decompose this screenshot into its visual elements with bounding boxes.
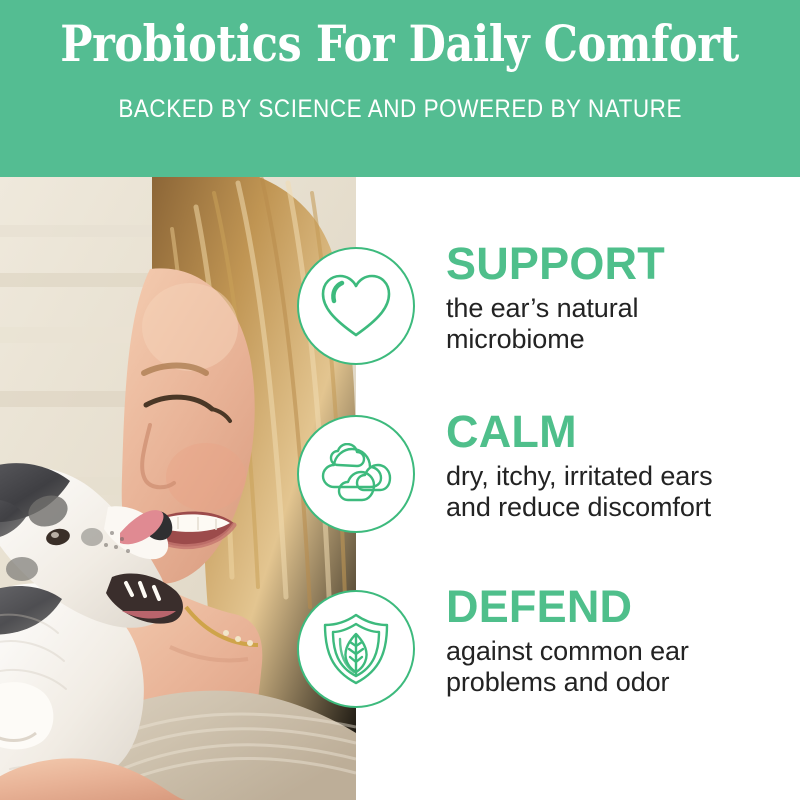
- shield-leaf-icon: [297, 590, 415, 708]
- feature-defend-body-line-2: problems and odor: [446, 667, 800, 699]
- feature-support-body-line-1: the ear’s natural: [446, 293, 800, 325]
- page-subtitle: BACKED BY SCIENCE AND POWERED BY NATURE: [118, 95, 682, 124]
- promo-graphic: Probiotics For Daily Comfort BACKED BY S…: [0, 0, 800, 800]
- feature-list: SUPPORT the ear’s natural microbiome: [356, 177, 800, 800]
- feature-support-body: the ear’s natural microbiome: [446, 293, 800, 356]
- feature-calm-text: CALM dry, itchy, irritated ears and redu…: [446, 409, 800, 524]
- feature-support-body-line-2: microbiome: [446, 324, 800, 356]
- header-banner: Probiotics For Daily Comfort BACKED BY S…: [0, 0, 800, 177]
- feature-defend-heading: DEFEND: [446, 584, 800, 630]
- feature-defend-text: DEFEND against common ear problems and o…: [446, 584, 800, 699]
- feature-support-heading: SUPPORT: [446, 241, 800, 287]
- page-title: Probiotics For Daily Comfort: [61, 19, 740, 69]
- heart-icon: [297, 247, 415, 365]
- feature-support-text: SUPPORT the ear’s natural microbiome: [446, 241, 800, 356]
- feature-calm-heading: CALM: [446, 409, 800, 455]
- feature-defend-body: against common ear problems and odor: [446, 636, 800, 699]
- feature-calm-body-line-1: dry, itchy, irritated ears: [446, 461, 800, 493]
- feature-calm-body: dry, itchy, irritated ears and reduce di…: [446, 461, 800, 524]
- feature-calm-body-line-2: and reduce discomfort: [446, 492, 800, 524]
- feature-defend-body-line-1: against common ear: [446, 636, 800, 668]
- clouds-icon: [297, 415, 415, 533]
